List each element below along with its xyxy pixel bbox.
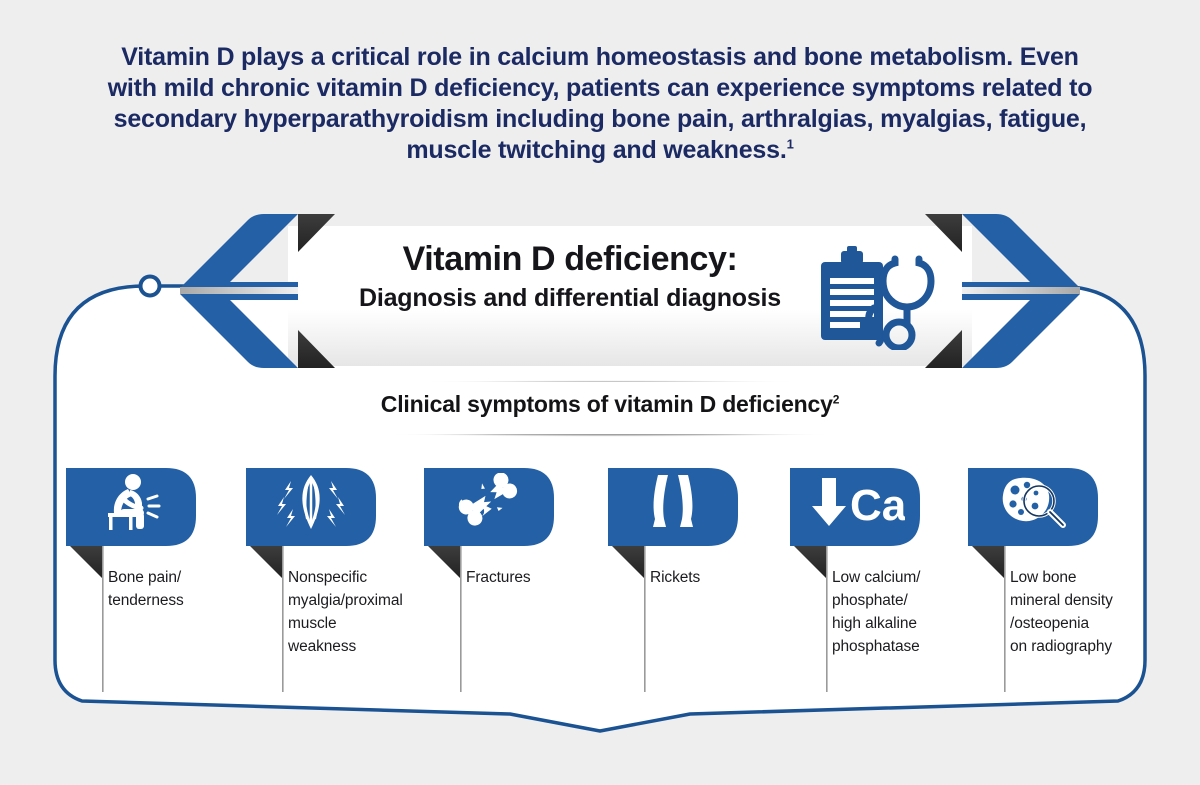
card-label: Nonspecificmyalgia/proximalmuscleweaknes… [288,566,416,658]
clipboard-stethoscope-icon [815,245,935,350]
section-subtitle-block: Clinical symptoms of vitamin D deficienc… [330,380,890,438]
card-banner-shape [246,468,376,546]
card-banner-shape [424,468,554,546]
symptom-card-low-bmd[interactable]: Low bonemineral density/osteopeniaon rad… [968,466,1144,696]
card-stem [826,546,828,692]
card-stem [282,546,284,692]
ribbon-left-lower-wing [180,294,298,368]
card-fold [794,546,826,578]
intro-superscript: 1 [787,137,794,152]
ribbon-right-upper-wing [962,214,1080,288]
card-fold [612,546,644,578]
symptom-card-bone-pain[interactable]: Bone pain/tenderness [66,466,242,696]
card-stem [102,546,104,692]
card-banner-shape [968,468,1098,546]
frame-left-connector-icon [141,277,160,296]
ribbon-right-lower-wing [962,294,1080,368]
intro-paragraph: Vitamin D plays a critical role in calci… [100,42,1100,166]
symptom-cards: Bone pain/tenderness [0,466,1200,696]
card-label: Low bonemineral density/osteopeniaon rad… [1010,566,1138,658]
card-fold [250,546,282,578]
card-banner-shape [608,468,738,546]
intro-text: Vitamin D plays a critical role in calci… [108,43,1093,164]
card-banner-shape [66,468,196,546]
card-stem [460,546,462,692]
ribbon-left-upper-wing [180,214,298,288]
card-label: Bone pain/tenderness [108,566,236,612]
card-banner-shape [790,468,920,546]
ribbon-shape [180,212,1080,382]
card-label: Rickets [650,566,778,589]
ribbon-left-strip [180,287,298,294]
ribbon-right-strip [962,287,1080,294]
symptom-card-rickets[interactable]: Rickets [608,466,784,696]
symptom-card-fractures[interactable]: Fractures [424,466,600,696]
card-label: Fractures [466,566,594,589]
card-fold [428,546,460,578]
card-label: Low calcium/phosphate/high alkalinephosp… [832,566,960,658]
symptom-card-low-calcium[interactable]: Ca Low calcium/phosphate/high alkalineph… [790,466,966,696]
card-stem [1004,546,1006,692]
card-fold [972,546,1004,578]
section-subtitle: Clinical symptoms of vitamin D deficienc… [330,391,890,418]
header-ribbon: Vitamin D deficiency: Diagnosis and diff… [180,212,1080,372]
card-fold [70,546,102,578]
section-subtitle-superscript: 2 [833,392,839,406]
card-stem [644,546,646,692]
symptom-card-myalgia[interactable]: Nonspecificmyalgia/proximalmuscleweaknes… [246,466,422,696]
section-subtitle-text: Clinical symptoms of vitamin D deficienc… [381,391,833,417]
